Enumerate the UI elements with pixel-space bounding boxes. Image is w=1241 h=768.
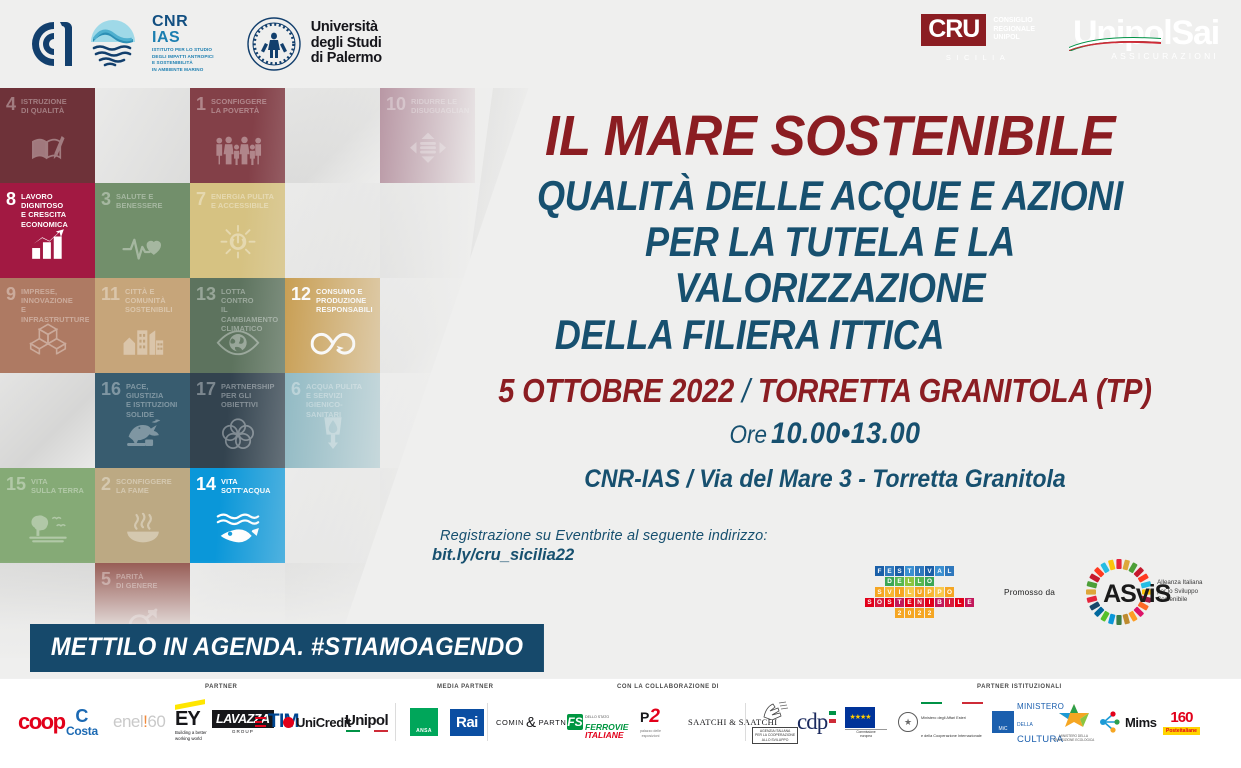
- sdg-tile-label: CONSUMO EPRODUZIONERESPONSABILI: [316, 285, 374, 315]
- enel-label: enel: [113, 712, 143, 731]
- event-poster: 4ISTRUZIONEDI QUALITÀ1SCONFIGGERELA POVE…: [0, 0, 1241, 768]
- poste-anniversary: 160: [1163, 709, 1200, 726]
- festival-letter: P: [925, 587, 934, 597]
- cru-sub-3: UNIPOL: [993, 34, 1035, 43]
- sdg-tile-number: 5: [101, 570, 111, 588]
- sdg-tile-12: 12CONSUMO EPRODUZIONERESPONSABILI: [285, 278, 380, 373]
- sdg-tile-number: 4: [6, 95, 16, 113]
- sdg-tile-number: 1: [196, 95, 206, 113]
- subtitle-line-3: DELLA FILIERA ITTICA: [486, 312, 1174, 358]
- sdg-tile-number: 17: [196, 380, 216, 398]
- festival-spacer: [965, 587, 974, 597]
- cru-region-label: SICILIA: [921, 53, 1035, 62]
- media-partner-rai: Rai: [450, 697, 484, 747]
- promosso-da-label: Promosso da: [1004, 587, 1055, 597]
- registration-block: Registrazione su Eventbrite al seguente …: [432, 528, 768, 565]
- rings-icon: [220, 418, 255, 453]
- infinity-icon: [310, 331, 355, 359]
- sdg-tile-number: 15: [6, 475, 26, 493]
- mic-badge-icon: MiC: [992, 711, 1014, 733]
- hand-lines-icon: [760, 700, 790, 720]
- unicredit-label: UniCredit: [296, 715, 351, 730]
- festival-letter: S: [875, 587, 884, 597]
- agenzia-label: AGENZIA ITALIANAPER LA COOPERAZIONEALLO …: [752, 727, 798, 744]
- sdg-tile-6: 6ACQUA PULITAE SERVIZIIGIENICO-SANITARI: [285, 373, 380, 468]
- star-icon: [1057, 702, 1091, 728]
- main-title: IL MARE SOSTENIBILE: [462, 108, 1198, 165]
- cru-sub-2: REGIONALE: [993, 26, 1035, 35]
- partner-divider-1: [395, 703, 396, 741]
- unipa-line1: Università: [311, 20, 382, 36]
- ferrovie-dello-stato: DELLO STATO: [585, 715, 609, 719]
- festival-letter: P: [935, 587, 944, 597]
- partner-heading: CON LA COLLABORAZIONE DI: [617, 684, 719, 690]
- sdg-tile-content: 2SCONFIGGERELA FAME: [95, 468, 190, 563]
- festival-spacer: [965, 608, 974, 618]
- asvis-logo: ASviS Alleanza Italianaper lo SviluppoSo…: [1085, 558, 1202, 626]
- festival-spacer: [965, 577, 974, 587]
- sdg-tile-content: 15VITASULLA TERRA: [0, 468, 95, 563]
- sdg-tile-number: 12: [291, 285, 311, 303]
- growth-chart-icon: [29, 228, 66, 263]
- sdg-tile-label: SCONFIGGERELA POVERTÀ: [211, 95, 279, 115]
- festival-spacer: [955, 577, 964, 587]
- sdg-tile-label: VITASULLA TERRA: [31, 475, 89, 495]
- sdg-tile-17: 17PARTNERSHIPPER GLI OBIETTIVI: [190, 373, 285, 468]
- sdg-tile-label: ENERGIA PULITAE ACCESSIBILE: [211, 190, 279, 210]
- festival-letter: O: [875, 598, 884, 608]
- sdg-tile-number: 9: [6, 285, 16, 303]
- partner-unicredit: UniCredit: [283, 697, 351, 747]
- sdg-tile-number: 3: [101, 190, 111, 208]
- mite-label: MINISTERO DELLATRANSIZIONE ECOLOGICA: [1053, 734, 1094, 742]
- festival-spacer: [955, 608, 964, 618]
- festival-spacer: [865, 577, 874, 587]
- sdg-tile-label: PACE, GIUSTIZIAE ISTITUZIONISOLIDE: [126, 380, 184, 419]
- sdg-tile-15: 15VITASULLA TERRA: [0, 468, 95, 563]
- tim-bars-icon: [255, 717, 266, 728]
- sdg-tile-9: 9IMPRESE,INNOVAZIONEE INFRASTRUTTURE: [0, 278, 95, 373]
- sdg-tile-8: 8LAVORO DIGNITOSOE CRESCITAECONOMICA: [0, 183, 95, 278]
- inst-agenzia-cooperazione: AGENZIA ITALIANAPER LA COOPERAZIONEALLO …: [752, 697, 798, 747]
- festival-spacer: [945, 608, 954, 618]
- event-date: 5 OTTOBRE 2022: [498, 372, 734, 409]
- registration-link[interactable]: bit.ly/cru_sicilia22: [432, 546, 768, 565]
- sdg-tile-content: 14VITASOTT'ACQUA: [190, 468, 285, 563]
- cru-sub-1: CONSIGLIO: [993, 17, 1035, 26]
- cnr-description: ISTITUTO PER LO STUDIODEGLI IMPATTI ANTR…: [152, 47, 214, 73]
- sdg-tile-11: 11CITTÀ E COMUNITÀSOSTENIBILI: [95, 278, 190, 373]
- sdg-tile-content: 17PARTNERSHIPPER GLI OBIETTIVI: [190, 373, 285, 468]
- network-nodes-icon: [1098, 710, 1122, 734]
- sun-power-icon: [220, 224, 256, 262]
- sdg-tile-label: LAVORO DIGNITOSOE CRESCITAECONOMICA: [21, 190, 89, 229]
- ias-label: IAS: [152, 30, 214, 46]
- festival-letter: A: [935, 566, 944, 576]
- sdg-tile-label: ISTRUZIONEDI QUALITÀ: [21, 95, 89, 115]
- partner-headings: PARTNERMEDIA PARTNERCON LA COLLABORAZION…: [0, 679, 1241, 695]
- festival-spacer: [885, 608, 894, 618]
- sdg-tile-label: SCONFIGGERELA FAME: [116, 475, 184, 495]
- italy-flag-icon: [829, 711, 836, 723]
- inst-poste-italiane: 160 Posteitaliane: [1163, 697, 1200, 747]
- enel-anniversary: 60: [147, 712, 165, 731]
- unipolsai-sub: ASSICURAZIONI: [1073, 51, 1219, 61]
- unipol-label: Unipol: [345, 712, 388, 729]
- ansa-logo: ANSA: [410, 708, 438, 736]
- sdg-tile-content: 3SALUTE EBENESSERE: [95, 183, 190, 278]
- ey-tagline: Building a betterworking world: [175, 730, 207, 741]
- festival-letter: 2: [895, 608, 904, 618]
- partner-coop: coop: [18, 697, 65, 747]
- sdg-tile-content: 9IMPRESE,INNOVAZIONEE INFRASTRUTTURE: [0, 278, 95, 373]
- sdg-tile-number: 10: [386, 95, 406, 113]
- unipa-logo: Università degli Studi di Palermo: [246, 16, 382, 72]
- partner-costa: C Costa: [66, 697, 98, 747]
- inst-mims: Mims: [1098, 697, 1157, 747]
- time-label: Ore: [729, 421, 767, 449]
- unipolsai-logo: UnipolSai ASSICURAZIONI: [1073, 16, 1219, 61]
- sdg-tile-label: CITTÀ E COMUNITÀSOSTENIBILI: [125, 285, 184, 315]
- sdg-tile-7: 7ENERGIA PULITAE ACCESSIBILE: [190, 183, 285, 278]
- festival-letter: D: [885, 577, 894, 587]
- festival-letter: L: [955, 598, 964, 608]
- ey-label: EY: [175, 709, 207, 729]
- title-block: IL MARE SOSTENIBILE QUALITÀ DELLE ACQUE …: [430, 108, 1230, 358]
- festival-spacer: [955, 587, 964, 597]
- festival-letter: U: [915, 587, 924, 597]
- venue-line: CNR-IAS / Via del Mare 3 - Torretta Gran…: [462, 465, 1189, 494]
- festival-spacer: [875, 608, 884, 618]
- sdg-tile-number: 11: [101, 285, 120, 303]
- sdg-tile-number: 2: [101, 475, 111, 493]
- maeci-tricolore-icon: [921, 702, 983, 705]
- festival-letter: L: [915, 577, 924, 587]
- sdg-tile-content: 7ENERGIA PULITAE ACCESSIBILE: [190, 183, 285, 278]
- festival-letter: B: [935, 598, 944, 608]
- ampersand-icon: &: [526, 714, 537, 731]
- sdg-tile-label: VITASOTT'ACQUA: [221, 475, 279, 495]
- sdg-tile-label: ACQUA PULITAE SERVIZIIGIENICO-SANITARI: [306, 380, 374, 419]
- festival-spacer: [965, 566, 974, 576]
- sdg-tile-number: 7: [196, 190, 206, 208]
- city-icon: [122, 325, 164, 359]
- partner-unipol: Unipol: [345, 697, 388, 747]
- eu-caption: Commissioneeuropea: [845, 729, 887, 738]
- festival-letter: L: [905, 587, 914, 597]
- partner-enel: enel!60: [113, 697, 165, 747]
- sdg-tile-content: 13LOTTA CONTROIL CAMBIAMENTOCLIMATICO: [190, 278, 285, 373]
- enel-logo-text: enel!60: [113, 712, 165, 732]
- festival-sviluppo-sostenibile-logo: FESTIVALDELLOSVILUPPOSOSTENIBILE2022: [865, 566, 974, 618]
- university-seal-icon: [246, 16, 302, 72]
- festival-spacer: [955, 566, 964, 576]
- time-line: Ore 10.00•13.00: [470, 417, 1181, 451]
- event-city: TORRETTA GRANITOLA (TP): [758, 372, 1152, 409]
- agenda-banner: METTILO IN AGENDA. #STIAMOAGENDO: [30, 624, 544, 672]
- cnr-ias-text: CNR IAS ISTITUTO PER LO STUDIODEGLI IMPA…: [152, 14, 214, 73]
- sdg-tile-3: 3SALUTE EBENESSERE: [95, 183, 190, 278]
- cru-badge: CRU: [921, 14, 986, 46]
- pde-mark-icon: 2: [649, 706, 660, 728]
- sdg-tile-label: PARTNERSHIPPER GLI OBIETTIVI: [221, 380, 279, 410]
- sdg-blank-tile: [285, 468, 380, 563]
- costa-label: Costa: [66, 725, 98, 737]
- water-glass-icon: [318, 414, 347, 452]
- republic-emblem-icon: ★: [898, 712, 918, 732]
- partner-heading: MEDIA PARTNER: [437, 684, 493, 690]
- festival-letter: T: [905, 566, 914, 576]
- festival-spacer: [865, 587, 874, 597]
- festival-letter: I: [915, 566, 924, 576]
- collab-ferrovie: FS DELLO STATO FERROVIE ITALIANE: [567, 697, 628, 747]
- sdg-tile-number: 14: [196, 475, 216, 493]
- sdg-tile-number: 13: [196, 285, 216, 303]
- mims-label: Mims: [1125, 715, 1157, 730]
- comin-label: COMIN: [496, 718, 524, 727]
- sdg-tile-13: 13LOTTA CONTROIL CAMBIAMENTOCLIMATICO: [190, 278, 285, 373]
- header-left-logos: CNR IAS ISTITUTO PER LO STUDIODEGLI IMPA…: [30, 14, 382, 73]
- festival-letter: S: [885, 598, 894, 608]
- subtitle-line-2: PER LA TUTELA E LA VALORIZZAZIONE: [486, 219, 1174, 311]
- unipa-line2: degli Studi: [311, 36, 382, 52]
- festival-letter: E: [905, 598, 914, 608]
- tricolore-swoosh-icon: [1069, 34, 1161, 51]
- partner-logos: coop C Costa enel!60 EY Building a bette…: [0, 697, 1241, 753]
- sdg-tile-4: 4ISTRUZIONEDI QUALITÀ: [0, 88, 95, 183]
- sdg-blank-tile: [285, 88, 380, 183]
- sdg-tile-label: SALUTE EBENESSERE: [116, 190, 184, 210]
- cnr-label: CNR: [152, 14, 214, 30]
- asvis-wheel-icon: ASviS: [1085, 558, 1153, 626]
- sdg-tile-label: LOTTA CONTROIL CAMBIAMENTOCLIMATICO: [221, 285, 279, 333]
- festival-letter: V: [885, 587, 894, 597]
- sdg-tile-content: 11CITTÀ E COMUNITÀSOSTENIBILI: [95, 278, 190, 373]
- event-info-block: 5 OTTOBRE 2022 / TORRETTA GRANITOLA (TP)…: [430, 372, 1220, 494]
- ias-wave-icon: [88, 19, 138, 69]
- fs-badge-icon: FS: [567, 714, 583, 730]
- festival-letter: I: [925, 598, 934, 608]
- inst-mite: MINISTERO DELLATRANSIZIONE ECOLOGICA: [1053, 697, 1094, 747]
- sdg-tile-16: 16PACE, GIUSTIZIAE ISTITUZIONISOLIDE: [95, 373, 190, 468]
- festival-letter: 0: [905, 608, 914, 618]
- festival-letter: O: [945, 587, 954, 597]
- inst-cdp: cdp: [797, 697, 836, 747]
- maeci-label: Ministero degli Affari Esterie della Coo…: [921, 716, 982, 738]
- cru-subtitle: CONSIGLIO REGIONALE UNIPOL: [993, 17, 1035, 43]
- festival-letter: I: [895, 587, 904, 597]
- costa-c-icon: C: [75, 707, 88, 725]
- registration-text: Registrazione su Eventbrite al seguente …: [432, 528, 768, 544]
- date-city-line: 5 OTTOBRE 2022 / TORRETTA GRANITOLA (TP): [477, 372, 1172, 410]
- sdg-tile-content: 1SCONFIGGERELA POVERTÀ: [190, 88, 285, 183]
- sdg-tile-content: 6ACQUA PULITAE SERVIZIIGIENICO-SANITARI: [285, 373, 380, 468]
- rai-logo: Rai: [450, 709, 484, 736]
- sdg-blank-tile: [95, 88, 190, 183]
- sdg-blank-tile: [285, 183, 380, 278]
- cdp-label: cdp: [797, 709, 827, 735]
- sdg-tile-2: 2SCONFIGGERELA FAME: [95, 468, 190, 563]
- festival-letter: E: [965, 598, 974, 608]
- eu-flag-icon: ★★★★: [845, 707, 875, 728]
- media-partner-ansa: ANSA: [410, 697, 438, 747]
- festival-letter: 2: [915, 608, 924, 618]
- della-label: DELLA: [1017, 722, 1033, 728]
- cnr-logo-icon: [30, 19, 74, 69]
- italiane-label: ITALIANE: [585, 731, 628, 740]
- coop-logo-text: coop: [18, 709, 65, 735]
- partner-divider-2: [487, 703, 488, 741]
- festival-letter: O: [925, 577, 934, 587]
- sdg-tile-label: IMPRESE,INNOVAZIONEE INFRASTRUTTURE: [21, 285, 89, 324]
- sdg-tile-content: 12CONSUMO EPRODUZIONERESPONSABILI: [285, 278, 380, 373]
- inst-maeci: ★ Ministero degli Affari Esterie della C…: [898, 697, 983, 747]
- sdg-tile-number: 6: [291, 380, 301, 398]
- festival-spacer: [865, 608, 874, 618]
- festival-letter: L: [905, 577, 914, 587]
- festival-letter: E: [895, 577, 904, 587]
- sdg-tile-label: PARITÀDI GENERE: [116, 570, 184, 590]
- inst-eu-commission: ★★★★ Commissioneeuropea: [845, 697, 887, 747]
- bowl-icon: [124, 513, 161, 548]
- collab-palazzo-esposizioni: P2 palazzo delleesposizioni: [640, 697, 661, 747]
- date-separator: /: [742, 372, 750, 409]
- festival-letter: L: [945, 566, 954, 576]
- sdg-tile-content: 4ISTRUZIONEDI QUALITÀ: [0, 88, 95, 183]
- unipa-text: Università degli Studi di Palermo: [311, 20, 382, 67]
- eye-globe-icon: [216, 330, 259, 360]
- sdg-tile-content: 8LAVORO DIGNITOSOE CRESCITAECONOMICA: [0, 183, 95, 278]
- partner-heading: PARTNER: [205, 684, 237, 690]
- asvis-name: ASviS: [1103, 580, 1170, 609]
- sdg-tile-number: 16: [101, 380, 121, 398]
- festival-spacer: [945, 577, 954, 587]
- pde-subtitle: palazzo delleesposizioni: [640, 729, 661, 738]
- partner-bar: PARTNERMEDIA PARTNERCON LA COLLABORAZION…: [0, 678, 1241, 768]
- fish-waves-icon: [215, 513, 260, 548]
- cru-logo: CRU CONSIGLIO REGIONALE UNIPOL SICILIA: [921, 14, 1035, 62]
- festival-letter: V: [925, 566, 934, 576]
- festival-spacer: [875, 577, 884, 587]
- unipa-line3: di Palermo: [311, 51, 382, 67]
- unicredit-dot-icon: [283, 717, 294, 728]
- partner-divider-3: [745, 703, 746, 741]
- subtitle-block: QUALITÀ DELLE ACQUE E AZIONI PER LA TUTE…: [486, 173, 1174, 358]
- sdg-blank-tile: [0, 373, 95, 468]
- festival-letter: T: [895, 598, 904, 608]
- book-pencil-icon: [30, 135, 66, 169]
- sdg-tile-number: 8: [6, 190, 16, 208]
- sdg-tile-content: 16PACE, GIUSTIZIAE ISTITUZIONISOLIDE: [95, 373, 190, 468]
- festival-letter: F: [875, 566, 884, 576]
- festival-spacer: [865, 566, 874, 576]
- dove-gavel-icon: [122, 418, 162, 453]
- festival-letter: I: [945, 598, 954, 608]
- festival-letter: S: [865, 598, 874, 608]
- heartbeat-icon: [122, 235, 164, 265]
- festival-letter: E: [885, 566, 894, 576]
- subtitle-line-1: QUALITÀ DELLE ACQUE E AZIONI: [486, 173, 1174, 219]
- pde-p: P: [640, 709, 649, 725]
- festival-asvis-row: FESTIVALDELLOSVILUPPOSOSTENIBILE2022 Pro…: [865, 558, 1203, 626]
- festival-letter: 2: [925, 608, 934, 618]
- sdg-tile-1: 1SCONFIGGERELA POVERTÀ: [190, 88, 285, 183]
- unipol-tricolore-icon: [346, 730, 388, 733]
- festival-spacer: [935, 577, 944, 587]
- cubes-icon: [29, 323, 66, 358]
- sdg-tile-14: 14VITASOTT'ACQUA: [190, 468, 285, 563]
- time-value: 10.00•13.00: [771, 417, 921, 450]
- poste-label: Posteitaliane: [1163, 727, 1200, 735]
- tree-birds-icon: [27, 513, 67, 548]
- partner-ey: EY Building a betterworking world: [175, 697, 207, 747]
- festival-letter: N: [915, 598, 924, 608]
- partner-heading: PARTNER ISTITUZIONALI: [977, 684, 1062, 690]
- festival-letter: S: [895, 566, 904, 576]
- family-icon: [214, 136, 262, 168]
- festival-spacer: [935, 608, 944, 618]
- header-right-logos: CRU CONSIGLIO REGIONALE UNIPOL SICILIA U…: [921, 14, 1219, 62]
